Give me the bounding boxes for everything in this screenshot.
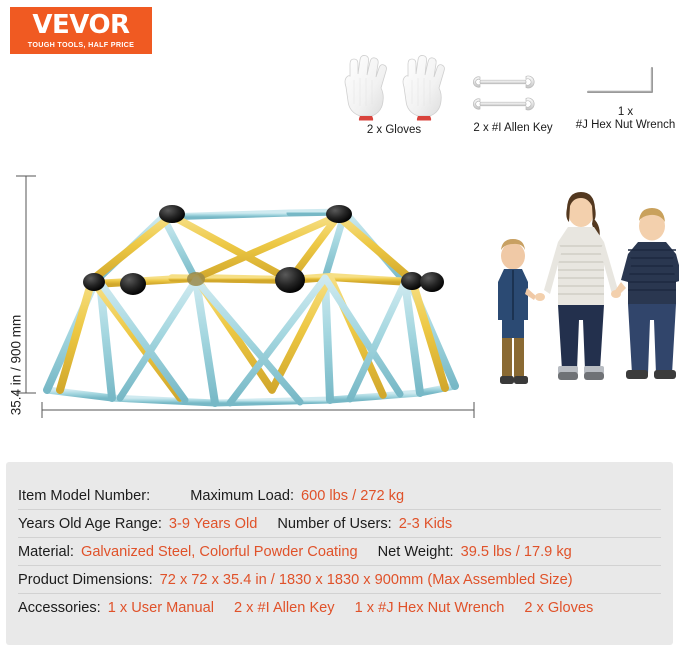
spec-value-hex-nut-wrench: 1 x #J Hex Nut Wrench bbox=[355, 600, 505, 616]
spec-value-age-range: 3-9 Years Old bbox=[169, 516, 257, 532]
brand-tagline: TOUGH TOOLS, HALF PRICE bbox=[28, 40, 134, 49]
children-photo bbox=[498, 192, 679, 384]
spec-row-model-load: Item Model Number: Maximum Load: 600 lbs… bbox=[18, 482, 661, 510]
spec-value-product-dimensions: 72 x 72 x 35.4 in / 1830 x 1830 x 900mm … bbox=[160, 572, 573, 588]
dome-structure bbox=[47, 205, 455, 403]
accessory-gloves: 2 x Gloves bbox=[336, 52, 452, 137]
spec-label-age-range: Years Old Age Range: bbox=[18, 516, 162, 532]
accessory-hex-label-line1: 1 x bbox=[572, 106, 679, 119]
spec-label-product-dimensions: Product Dimensions: bbox=[18, 572, 153, 588]
spec-row-age-users: Years Old Age Range: 3-9 Years Old Numbe… bbox=[18, 510, 661, 538]
spec-label-maximum-load: Maximum Load: bbox=[190, 488, 294, 504]
allen-key-icon bbox=[464, 66, 562, 122]
dome-climber-figure bbox=[0, 160, 679, 450]
accessory-allen-key-label: 2 x #I Allen Key bbox=[458, 122, 568, 135]
spec-value-user-manual: 1 x User Manual bbox=[108, 600, 214, 616]
child-boy bbox=[614, 208, 679, 379]
product-infographic-page: VEVOR TOUGH TOOLS, HALF PRICE bbox=[0, 0, 679, 651]
accessory-hex-label-line2: #J Hex Nut Wrench bbox=[572, 119, 679, 132]
accessories-strip: 2 x Gloves bbox=[330, 52, 679, 152]
spec-row-accessories: Accessories: 1 x User Manual 2 x #I Alle… bbox=[18, 594, 661, 622]
brand-name: VEVOR bbox=[32, 12, 129, 38]
spec-label-accessories: Accessories: bbox=[18, 600, 101, 616]
spec-row-dimensions: Product Dimensions: 72 x 72 x 35.4 in / … bbox=[18, 566, 661, 594]
height-dimension-label: 35.4 in / 900 mm bbox=[9, 315, 24, 416]
spec-label-net-weight: Net Weight: bbox=[378, 544, 454, 560]
spec-label-item-model-number: Item Model Number: bbox=[18, 488, 150, 504]
hex-nut-wrench-icon bbox=[576, 60, 676, 106]
child-toddler bbox=[498, 239, 536, 384]
specification-table: Item Model Number: Maximum Load: 600 lbs… bbox=[6, 462, 673, 645]
spec-value-maximum-load: 600 lbs / 272 kg bbox=[301, 488, 404, 504]
spec-value-number-of-users: 2-3 Kids bbox=[399, 516, 453, 532]
accessory-hex-nut-wrench: 1 x #J Hex Nut Wrench bbox=[572, 60, 679, 132]
spec-value-material: Galvanized Steel, Colorful Powder Coatin… bbox=[81, 544, 358, 560]
spec-row-material-weight: Material: Galvanized Steel, Colorful Pow… bbox=[18, 538, 661, 566]
spec-value-gloves: 2 x Gloves bbox=[524, 600, 593, 616]
accessory-allen-key: 2 x #I Allen Key bbox=[458, 66, 568, 135]
child-girl bbox=[544, 192, 618, 380]
spec-value-allen-key: 2 x #I Allen Key bbox=[234, 600, 335, 616]
spec-label-number-of-users: Number of Users: bbox=[277, 516, 391, 532]
product-illustration: 35.4 in / 900 mm 72 in / 1830 mm bbox=[0, 160, 679, 450]
gloves-icon bbox=[336, 52, 452, 124]
spec-label-material: Material: bbox=[18, 544, 74, 560]
vevor-logo: VEVOR TOUGH TOOLS, HALF PRICE bbox=[10, 7, 152, 54]
spec-value-net-weight: 39.5 lbs / 17.9 kg bbox=[461, 544, 572, 560]
accessory-gloves-label: 2 x Gloves bbox=[336, 124, 452, 137]
